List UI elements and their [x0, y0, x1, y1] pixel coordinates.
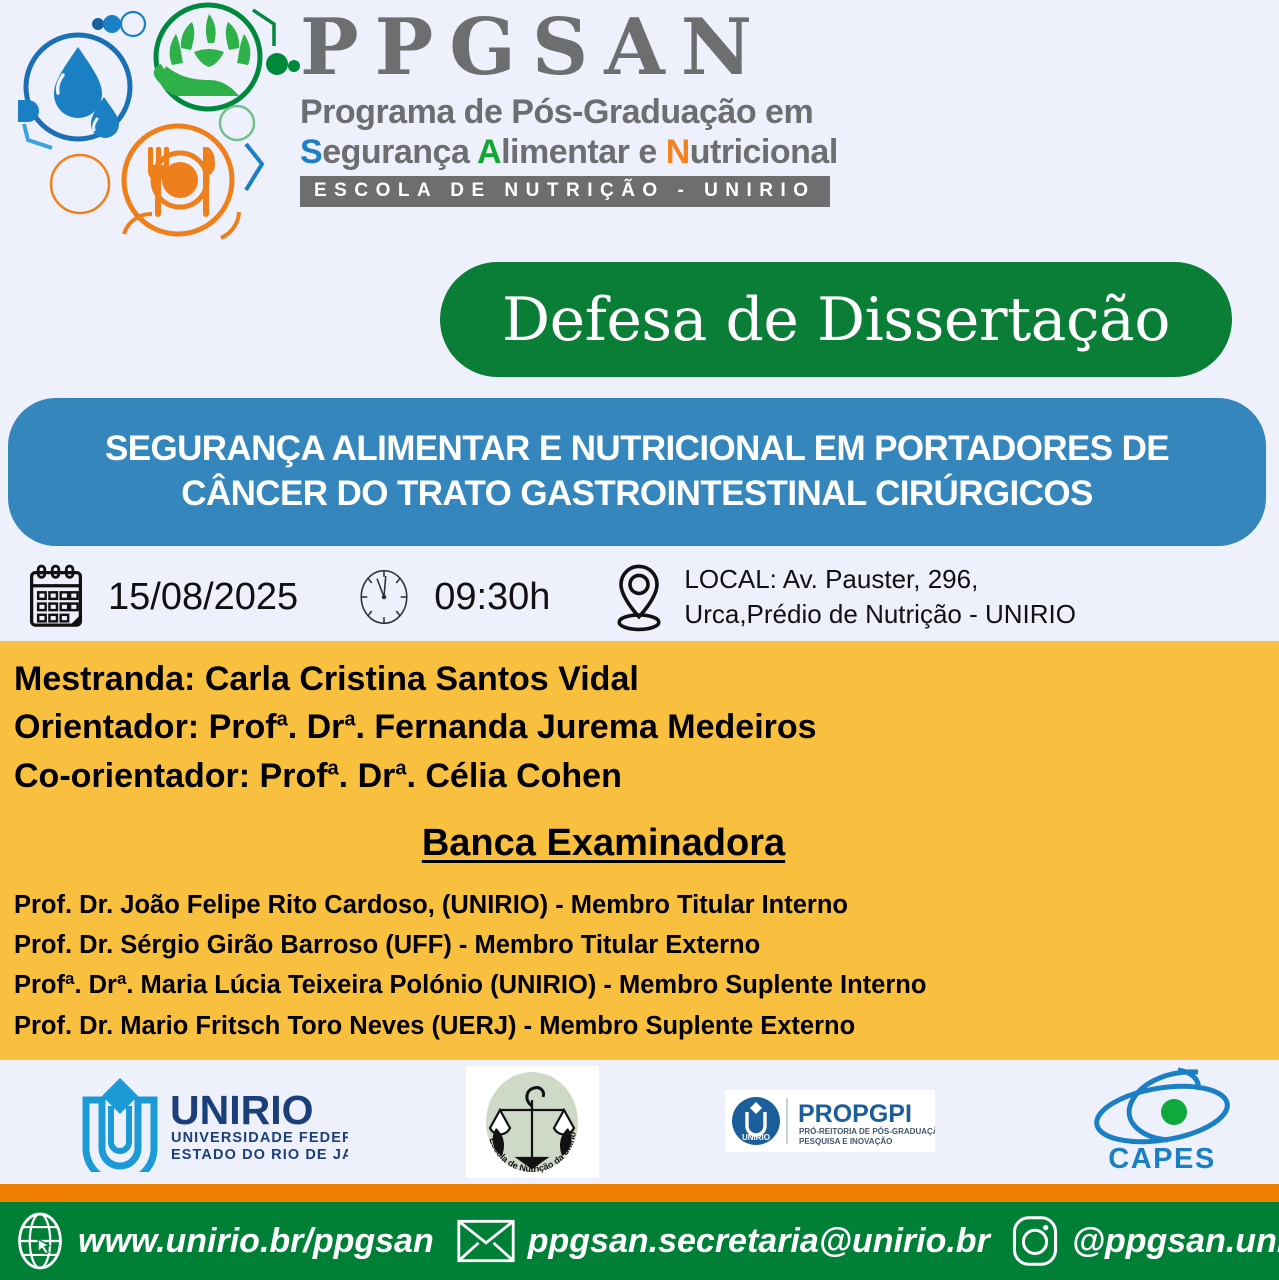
capes-logo: CAPES — [1082, 1066, 1242, 1178]
instagram-icon — [1010, 1213, 1060, 1269]
program-s: S — [300, 133, 322, 171]
location-line-1: LOCAL: Av. Pauster, 296, — [684, 562, 1076, 597]
program-rest-3: utricional — [690, 133, 838, 171]
program-rest-1: egurança — [322, 133, 477, 171]
calendar-icon — [26, 563, 86, 631]
committee-member: Prof. Dr. João Felipe Rito Cardoso, (UNI… — [14, 885, 1279, 925]
unirio-sub-2: ESTADO DO RIO DE JANEIRO — [171, 1147, 348, 1163]
dissertation-title-banner: SEGURANÇA ALIMENTAR E NUTRICIONAL EM POR… — [8, 398, 1266, 546]
ppgsan-logo-mark — [6, 2, 306, 240]
program-rest-2: limentar e — [501, 133, 666, 171]
date-group: 15/08/2025 — [26, 563, 298, 631]
committee-member: Prof. Dr. Mario Fritsch Toro Neves (UERJ… — [14, 1006, 1279, 1046]
school-strip: ESCOLA DE NUTRIÇÃO - UNIRIO — [300, 176, 830, 207]
event-type-banner: Defesa de Dissertação — [440, 262, 1232, 377]
escola-nutricao-seal: Escola de Nutrição da Unirio — [466, 1066, 599, 1178]
committee-list: Prof. Dr. João Felipe Rito Cardoso, (UNI… — [14, 885, 1279, 1046]
instagram-text: @ppgsan.unirio — [1072, 1222, 1279, 1261]
propgpi-logo: UNIRIO PROPGPI PRÓ-REITORIA DE PÓS-GRADU… — [725, 1090, 935, 1152]
event-time: 09:30h — [434, 576, 550, 619]
event-info-row: 15/08/2025 09:30h — [0, 552, 1279, 642]
sponsor-logos-strip: UNIRIO UNIVERSIDADE FEDERAL DO ESTADO DO… — [0, 1060, 1279, 1184]
event-location: LOCAL: Av. Pauster, 296, Urca,Prédio de … — [684, 562, 1076, 632]
email-text: ppgsan.secretaria@unirio.br — [528, 1222, 990, 1261]
capes-wordmark: CAPES — [1108, 1143, 1215, 1175]
event-type-label: Defesa de Dissertação — [502, 285, 1170, 355]
student-name: Carla Cristina Santos Vidal — [205, 660, 639, 698]
advisor-sup-2: a — [344, 709, 355, 731]
brand-title: PPGSAN — [300, 4, 860, 91]
program-a: A — [477, 133, 501, 171]
advisor-mid: . Dr — [288, 708, 345, 746]
program-line-1: Programa de Pós-Graduação em — [300, 93, 860, 132]
unirio-diamond-icon — [102, 1078, 138, 1114]
header: PPGSAN Programa de Pós-Graduação em Segu… — [0, 0, 1279, 248]
capes-dot-icon — [1161, 1099, 1187, 1125]
committee-heading: Banca Examinadora — [14, 822, 1193, 865]
accent-dot-navy — [92, 18, 104, 30]
advisor-name: . Fernanda Jurema Medeiros — [356, 708, 817, 746]
coadvisor-sup-2: a — [395, 757, 406, 779]
accent-dot-blue — [103, 15, 121, 33]
propgpi-wordmark: PROPGPI — [798, 1100, 912, 1128]
location-line-2: Urca,Prédio de Nutrição - UNIRIO — [684, 597, 1076, 632]
envelope-icon — [456, 1217, 516, 1265]
accent-ring-orange — [51, 155, 109, 213]
clock-icon — [356, 566, 412, 628]
coadvisor-sup-1: a — [328, 757, 339, 779]
email-group[interactable]: ppgsan.secretaria@unirio.br — [456, 1217, 990, 1265]
water-drop-icon — [54, 47, 102, 118]
event-date: 15/08/2025 — [108, 576, 298, 619]
propgpi-sub-2: PESQUISA E INOVAÇÃO — [799, 1137, 892, 1146]
accent-dot-green — [266, 53, 288, 75]
brand-block: PPGSAN Programa de Pós-Graduação em Segu… — [300, 4, 860, 207]
advisor-label: Orientador: Prof — [14, 708, 277, 746]
plate-cutlery-icon — [148, 147, 215, 217]
website-text: www.unirio.br/ppgsan — [78, 1222, 434, 1261]
accent-ring-blue — [121, 12, 145, 36]
coadvisor-mid: . Dr — [339, 757, 396, 795]
advisor-line: Orientador: Profa. Dra. Fernanda Jurema … — [14, 703, 1279, 751]
propgpi-badge-label: UNIRIO — [742, 1133, 770, 1142]
unirio-wordmark: UNIRIO — [170, 1087, 314, 1133]
coadvisor-line: Co-orientador: Profa. Dra. Célia Cohen — [14, 752, 1279, 800]
orange-divider-stripe — [0, 1184, 1279, 1202]
committee-member: Profª. Drª. Maria Lúcia Teixeira Polónio… — [14, 965, 1279, 1005]
program-n: N — [666, 133, 690, 171]
accent-chevron-blue — [246, 144, 262, 190]
advisor-sup-1: a — [277, 709, 288, 731]
coadvisor-label: Co-orientador: Prof — [14, 757, 328, 795]
unirio-logo: UNIRIO UNIVERSIDADE FEDERAL DO ESTADO DO… — [78, 1072, 348, 1172]
accent-halfdot — [18, 100, 39, 122]
title-line-2: CÂNCER DO TRATO GASTROINTESTINAL CIRÚRGI… — [181, 472, 1092, 517]
propgpi-sub-1: PRÓ-REITORIA DE PÓS-GRADUAÇÃO, — [799, 1127, 935, 1136]
title-line-1: SEGURANÇA ALIMENTAR E NUTRICIONAL EM POR… — [105, 427, 1169, 472]
contact-footer: www.unirio.br/ppgsan ppgsan.secretaria@u… — [0, 1202, 1279, 1280]
accent-dot-green-small — [288, 60, 300, 72]
committee-member: Prof. Dr. Sérgio Girão Barroso (UFF) - M… — [14, 925, 1279, 965]
student-line: Mestranda: Carla Cristina Santos Vidal — [14, 655, 1279, 703]
globe-icon — [14, 1211, 66, 1271]
program-line-2: Segurança Alimentar e Nutricional — [300, 133, 860, 172]
instagram-group[interactable]: @ppgsan.unirio — [1010, 1213, 1279, 1269]
time-group: 09:30h — [356, 566, 550, 628]
student-label: Mestranda: — [14, 660, 205, 698]
location-group: LOCAL: Av. Pauster, 296, Urca,Prédio de … — [612, 561, 1076, 633]
coadvisor-name: . Célia Cohen — [406, 757, 621, 795]
unirio-sub-1: UNIVERSIDADE FEDERAL DO — [171, 1130, 348, 1146]
website-group[interactable]: www.unirio.br/ppgsan — [14, 1211, 434, 1271]
accent-ring-green — [220, 106, 254, 140]
map-pin-icon — [612, 561, 666, 633]
people-and-committee-block: Mestranda: Carla Cristina Santos Vidal O… — [0, 641, 1279, 1060]
poster-root: PPGSAN Programa de Pós-Graduação em Segu… — [0, 0, 1279, 1280]
